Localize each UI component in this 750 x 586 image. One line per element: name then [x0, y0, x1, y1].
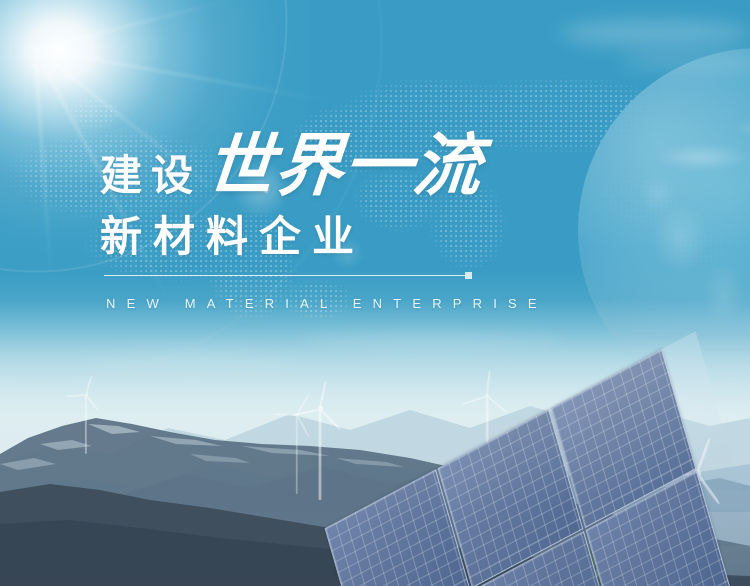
- divider-line: [104, 275, 465, 276]
- title-divider: [104, 272, 472, 279]
- headline-emphasis: 世界一流: [203, 132, 485, 200]
- divider-end-square: [465, 272, 472, 279]
- turbine-blade: [66, 394, 86, 397]
- turbine-tower: [296, 416, 298, 494]
- cloud-wisp: [560, 20, 750, 46]
- turbine-tower: [85, 394, 87, 454]
- hero-banner: 建设 世界一流 新材料企业 NEW MATERIAL ENTERPRISE: [0, 0, 750, 586]
- turbine-blade: [462, 395, 487, 405]
- wind-turbine-icon: [64, 378, 108, 454]
- turbine-blade: [85, 376, 92, 396]
- wind-turbine-icon: [270, 398, 324, 494]
- page-title: 建设 世界一流 新材料企业: [100, 132, 482, 258]
- turbine-blade: [85, 395, 99, 412]
- headline-line-2: 新材料企业: [100, 216, 482, 258]
- turbine-blade: [272, 413, 297, 416]
- headline-line-1: 建设 世界一流: [100, 132, 482, 200]
- headline-prefix: 建设: [100, 155, 202, 197]
- turbine-blade: [486, 396, 507, 414]
- turbine-blade: [296, 415, 310, 438]
- page-subtitle: NEW MATERIAL ENTERPRISE: [106, 296, 548, 311]
